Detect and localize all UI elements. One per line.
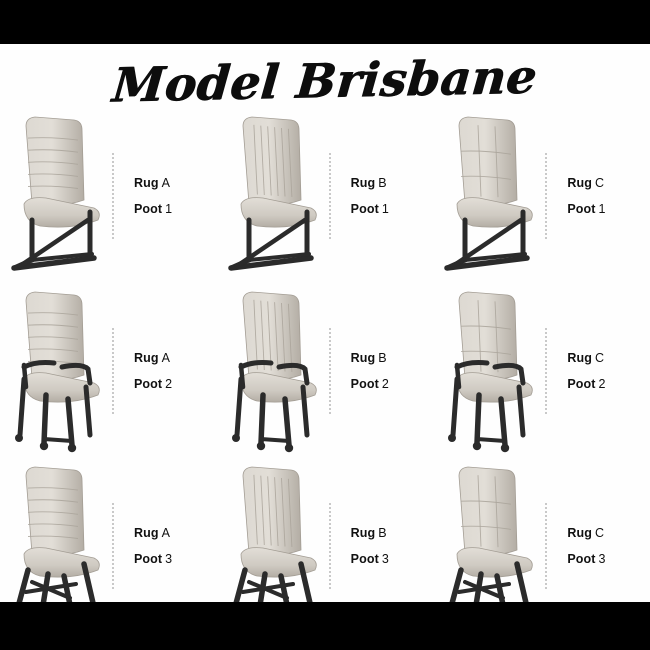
chair-variant-cell: RugA Poot1 xyxy=(0,108,217,283)
chair-image xyxy=(2,108,110,283)
poot-value: 1 xyxy=(599,202,606,216)
poot-label: Poot1 xyxy=(134,202,217,216)
chair-image xyxy=(2,458,110,602)
rug-key: Rug xyxy=(351,526,376,540)
chair-variant-cell: RugB Poot1 xyxy=(217,108,434,283)
chair-illustration xyxy=(2,458,110,602)
variant-labels: RugC Poot2 xyxy=(557,351,650,391)
poot-key: Poot xyxy=(134,552,162,566)
rug-key: Rug xyxy=(567,526,592,540)
letterbox-bar-bottom xyxy=(0,602,650,650)
rug-label: RugB xyxy=(351,351,434,365)
rug-value: A xyxy=(162,351,170,365)
chair-illustration xyxy=(435,108,543,283)
dotted-divider xyxy=(545,503,557,589)
letterbox-bar-top xyxy=(0,0,650,44)
rug-key: Rug xyxy=(351,176,376,190)
rug-label: RugB xyxy=(351,526,434,540)
rug-value: A xyxy=(162,176,170,190)
poot-label: Poot3 xyxy=(351,552,434,566)
chair-image xyxy=(219,108,327,283)
poot-label: Poot2 xyxy=(351,377,434,391)
poot-key: Poot xyxy=(351,202,379,216)
rug-key: Rug xyxy=(134,176,159,190)
variant-labels: RugB Poot1 xyxy=(341,176,434,216)
chair-illustration xyxy=(219,458,327,602)
rug-label: RugB xyxy=(351,176,434,190)
rug-key: Rug xyxy=(134,526,159,540)
poot-key: Poot xyxy=(134,377,162,391)
dotted-divider xyxy=(329,328,341,414)
chair-image xyxy=(435,283,543,458)
chair-variant-cell: RugC Poot1 xyxy=(433,108,650,283)
chair-illustration xyxy=(219,283,327,458)
variant-labels: RugC Poot3 xyxy=(557,526,650,566)
poot-label: Poot1 xyxy=(567,202,650,216)
poot-key: Poot xyxy=(567,377,595,391)
rug-value: C xyxy=(595,351,604,365)
dotted-divider xyxy=(329,503,341,589)
dotted-divider xyxy=(112,328,124,414)
poot-key: Poot xyxy=(351,552,379,566)
poot-label: Poot2 xyxy=(567,377,650,391)
chair-illustration xyxy=(219,108,327,283)
dotted-divider xyxy=(545,328,557,414)
rug-value: C xyxy=(595,526,604,540)
rug-label: RugA xyxy=(134,351,217,365)
chair-illustration xyxy=(2,283,110,458)
dotted-divider xyxy=(329,153,341,239)
chair-variant-cell: RugB Poot2 xyxy=(217,283,434,458)
chair-variant-cell: RugC Poot3 xyxy=(433,458,650,602)
dotted-divider xyxy=(112,153,124,239)
poot-value: 2 xyxy=(165,377,172,391)
chair-image xyxy=(435,458,543,602)
page-title: Model Brisbane xyxy=(110,49,539,113)
dotted-divider xyxy=(545,153,557,239)
chair-image xyxy=(219,458,327,602)
poot-key: Poot xyxy=(567,202,595,216)
chair-image xyxy=(2,283,110,458)
rug-key: Rug xyxy=(567,176,592,190)
chair-illustration xyxy=(435,458,543,602)
chair-image xyxy=(435,108,543,283)
rug-label: RugC xyxy=(567,351,650,365)
rug-value: C xyxy=(595,176,604,190)
poot-value: 2 xyxy=(599,377,606,391)
poot-value: 3 xyxy=(599,552,606,566)
rug-value: B xyxy=(378,351,386,365)
poot-key: Poot xyxy=(351,377,379,391)
variant-labels: RugB Poot3 xyxy=(341,526,434,566)
rug-label: RugA xyxy=(134,526,217,540)
poot-label: Poot3 xyxy=(134,552,217,566)
rug-label: RugC xyxy=(567,176,650,190)
variant-labels: RugC Poot1 xyxy=(557,176,650,216)
rug-value: A xyxy=(162,526,170,540)
variant-labels: RugA Poot2 xyxy=(124,351,217,391)
poot-key: Poot xyxy=(567,552,595,566)
poot-label: Poot3 xyxy=(567,552,650,566)
poot-key: Poot xyxy=(134,202,162,216)
chair-illustration xyxy=(2,108,110,283)
image-canvas: Model Brisbane xyxy=(0,44,650,602)
poot-value: 3 xyxy=(165,552,172,566)
chair-image xyxy=(219,283,327,458)
rug-value: B xyxy=(378,526,386,540)
variant-labels: RugB Poot2 xyxy=(341,351,434,391)
rug-key: Rug xyxy=(567,351,592,365)
rug-label: RugC xyxy=(567,526,650,540)
variant-labels: RugA Poot1 xyxy=(124,176,217,216)
dotted-divider xyxy=(112,503,124,589)
title-area: Model Brisbane xyxy=(0,50,650,112)
chair-variant-cell: RugA Poot3 xyxy=(0,458,217,602)
poot-label: Poot1 xyxy=(351,202,434,216)
chair-variant-cell: RugA Poot2 xyxy=(0,283,217,458)
product-overview-image: Model Brisbane xyxy=(0,0,650,650)
chair-variant-grid: RugA Poot1 xyxy=(0,108,650,600)
poot-value: 1 xyxy=(382,202,389,216)
chair-variant-cell: RugC Poot2 xyxy=(433,283,650,458)
poot-value: 1 xyxy=(165,202,172,216)
rug-value: B xyxy=(378,176,386,190)
chair-variant-cell: RugB Poot3 xyxy=(217,458,434,602)
variant-labels: RugA Poot3 xyxy=(124,526,217,566)
poot-value: 2 xyxy=(382,377,389,391)
rug-label: RugA xyxy=(134,176,217,190)
chair-illustration xyxy=(435,283,543,458)
poot-value: 3 xyxy=(382,552,389,566)
rug-key: Rug xyxy=(134,351,159,365)
rug-key: Rug xyxy=(351,351,376,365)
poot-label: Poot2 xyxy=(134,377,217,391)
